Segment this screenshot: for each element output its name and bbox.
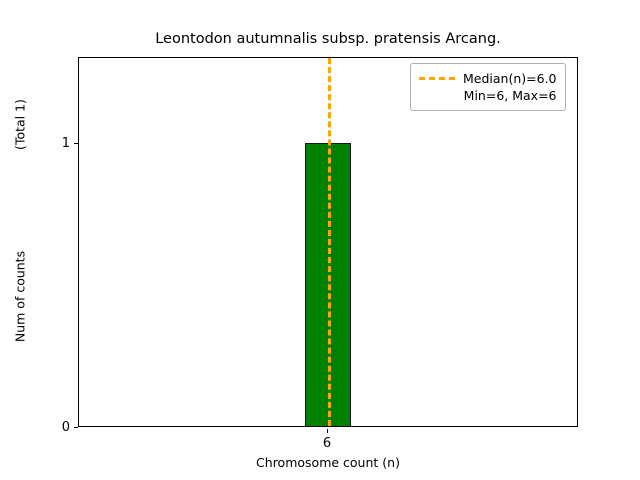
chart-legend: Median(n)=6.0 Min=6, Max=6 [410, 63, 566, 111]
chart-figure: Leontodon autumnalis subsp. pratensis Ar… [0, 0, 640, 480]
y-axis-label-group: Num of counts (Total 1) [0, 57, 40, 427]
legend-dashed-line-icon [419, 70, 455, 86]
x-axis-label: Chromosome count (n) [78, 455, 578, 470]
plot-inner [79, 58, 577, 426]
legend-median-label: Median(n)=6.0 [463, 70, 557, 87]
median-line [328, 58, 331, 426]
legend-minmax-label: Min=6, Max=6 [463, 87, 557, 104]
x-axis-tick-labels: 6 [78, 433, 578, 451]
x-tick-label-6: 6 [323, 437, 331, 450]
y-tick-label-1: 1 [62, 137, 70, 150]
x-tick-mark-6 [327, 429, 328, 433]
y-tick-label-0: 0 [62, 421, 70, 434]
legend-entry-median: Median(n)=6.0 Min=6, Max=6 [419, 70, 557, 104]
y-axis-label-total: (Total 1) [13, 5, 28, 245]
chart-title: Leontodon autumnalis subsp. pratensis Ar… [78, 31, 578, 48]
legend-entry-text: Median(n)=6.0 Min=6, Max=6 [463, 70, 557, 104]
plot-area [78, 57, 578, 427]
